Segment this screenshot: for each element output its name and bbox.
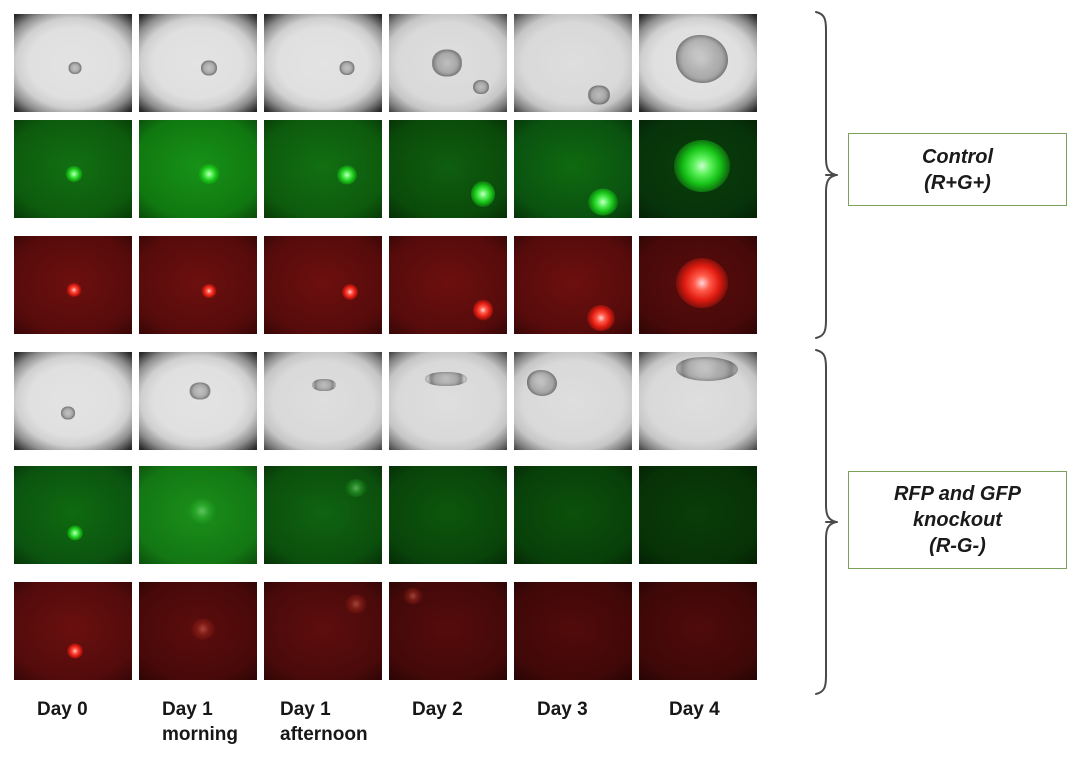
tile-control-rfp-day3 — [514, 236, 632, 334]
fluorescent-signal — [187, 498, 217, 524]
cell-body — [201, 60, 217, 75]
cell-body — [312, 379, 336, 391]
tile-knockout-gfp-day1am — [139, 466, 257, 564]
fluorescent-signal — [588, 189, 618, 216]
fluorescent-signal — [201, 284, 216, 298]
fluorescent-signal — [471, 181, 495, 207]
fluorescent-signal — [337, 165, 357, 184]
tile-control-brightfield-day2 — [389, 14, 507, 112]
tile-control-brightfield-day1am — [139, 14, 257, 112]
fluorescent-signal — [198, 164, 220, 184]
tile-control-brightfield-day4 — [639, 14, 757, 112]
fluorescent-signal — [191, 619, 215, 640]
fluorescent-signal — [587, 305, 615, 331]
cell-body — [339, 61, 354, 75]
colony-body — [527, 370, 557, 396]
tile-knockout-gfp-day4 — [639, 466, 757, 564]
tile-knockout-brightfield-day2 — [389, 352, 507, 450]
tile-control-brightfield-day0 — [14, 14, 132, 112]
tile-control-gfp-day0 — [14, 120, 132, 218]
tile-control-rfp-day0 — [14, 236, 132, 334]
group-label-knockout-line-2: knockout — [913, 507, 1002, 533]
fluorescent-signal — [66, 166, 83, 182]
tile-control-gfp-day1am — [139, 120, 257, 218]
tile-knockout-gfp-day1pm — [264, 466, 382, 564]
cell-body — [432, 50, 462, 77]
fluorescent-signal — [473, 300, 493, 321]
fluorescent-signal — [67, 283, 82, 297]
tile-control-rfp-day1am — [139, 236, 257, 334]
tile-knockout-brightfield-day4 — [639, 352, 757, 450]
timepoint-axis-labels: Day 0 Day 1 morning Day 1 afternoon Day … — [14, 698, 774, 760]
colony-body — [676, 35, 728, 83]
tile-knockout-rfp-day2 — [389, 582, 507, 680]
tile-knockout-rfp-day1am — [139, 582, 257, 680]
tile-control-brightfield-day3 — [514, 14, 632, 112]
cell-body — [190, 383, 211, 400]
tile-knockout-rfp-day4 — [639, 582, 757, 680]
tile-control-gfp-day3 — [514, 120, 632, 218]
tile-control-gfp-day1pm — [264, 120, 382, 218]
group-label-knockout: RFP and GFP knockout (R-G-) — [848, 471, 1067, 569]
fluorescent-signal — [67, 643, 83, 658]
cell-body — [473, 80, 489, 94]
fluorescent-signal — [345, 594, 367, 613]
tile-knockout-gfp-day0 — [14, 466, 132, 564]
tile-knockout-gfp-day2 — [389, 466, 507, 564]
column-label-day1pm: Day 1 afternoon — [280, 698, 405, 747]
tile-knockout-rfp-day0 — [14, 582, 132, 680]
brace-knockout-group — [786, 348, 838, 696]
group-label-knockout-line-3: (R-G-) — [929, 533, 986, 559]
tile-control-rfp-day2 — [389, 236, 507, 334]
tile-knockout-brightfield-day1pm — [264, 352, 382, 450]
tile-knockout-gfp-day3 — [514, 466, 632, 564]
group-label-control: Control (R+G+) — [848, 133, 1067, 206]
cell-body — [588, 86, 610, 105]
cell-body — [69, 62, 82, 74]
tile-knockout-rfp-day1pm — [264, 582, 382, 680]
fluorescent-signal — [345, 479, 367, 497]
fluorescent-signal — [403, 588, 423, 604]
tile-control-gfp-day4 — [639, 120, 757, 218]
tile-knockout-brightfield-day1am — [139, 352, 257, 450]
column-label-day1am: Day 1 morning — [162, 698, 280, 747]
tile-control-gfp-day2 — [389, 120, 507, 218]
fluorescent-signal — [67, 525, 83, 540]
group-label-control-line-2: (R+G+) — [924, 170, 991, 196]
tile-knockout-rfp-day3 — [514, 582, 632, 680]
microscopy-figure: Control (R+G+) RFP and GFP knockout (R-G… — [0, 0, 1077, 762]
fluorescent-signal — [342, 284, 358, 300]
tile-knockout-brightfield-day0 — [14, 352, 132, 450]
column-label-day4: Day 4 — [669, 698, 787, 723]
tile-control-rfp-day4 — [639, 236, 757, 334]
tile-control-rfp-day1pm — [264, 236, 382, 334]
column-label-day3: Day 3 — [537, 698, 655, 723]
tile-knockout-brightfield-day3 — [514, 352, 632, 450]
fluorescent-signal — [674, 140, 730, 192]
fluorescent-signal — [676, 258, 728, 308]
tile-control-brightfield-day1pm — [264, 14, 382, 112]
column-label-day2: Day 2 — [412, 698, 530, 723]
cell-body — [425, 372, 467, 386]
column-label-day0: Day 0 — [37, 698, 155, 723]
cell-body — [61, 406, 75, 419]
group-label-knockout-line-1: RFP and GFP — [894, 481, 1021, 507]
brace-control-group — [786, 10, 838, 340]
group-label-control-line-1: Control — [922, 144, 993, 170]
colony-body — [676, 357, 738, 381]
